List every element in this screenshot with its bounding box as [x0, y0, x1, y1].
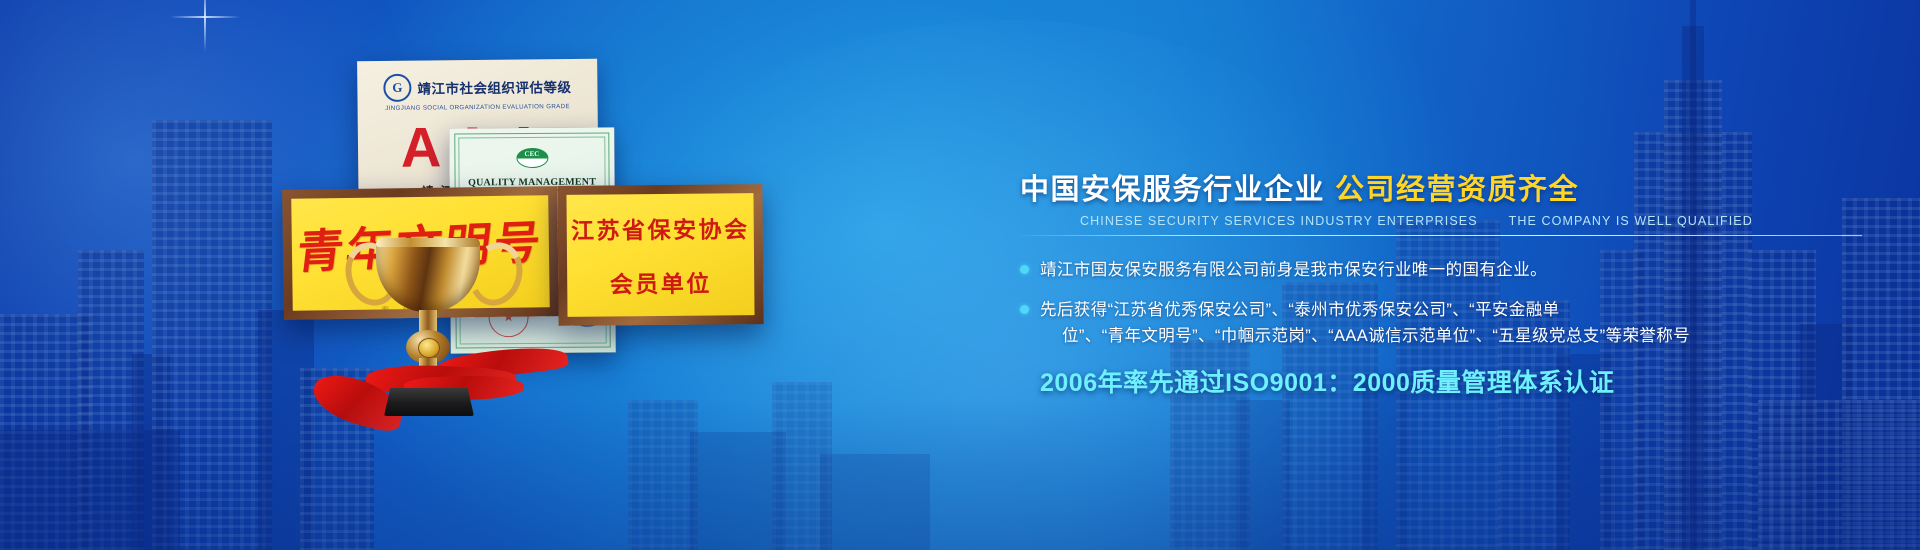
jiangsu-security-association-plaque: 江苏省保安协会 会员单位	[557, 184, 763, 326]
promo-banner: G 靖江市社会组织评估等级 JINGJIANG SOCIAL ORGANIZAT…	[0, 0, 1920, 550]
list-item: 先后获得“江苏省优秀保安公司”、“泰州市优秀保安公司”、“平安金融单 位”、“青…	[1020, 297, 1880, 350]
bullet-text-1: 靖江市国友保安服务有限公司前身是我市保安行业唯一的国有企业。	[1040, 257, 1547, 284]
banner-text-block: 中国安保服务行业企业公司经营资质齐全 CHINESE SECURITY SERV…	[1020, 176, 1880, 399]
association-plaque-line1: 江苏省保安协会	[571, 210, 750, 246]
subtitle-en-right: THE COMPANY IS WELL QUALIFIED	[1509, 214, 1753, 228]
cec-logo-icon: CEC	[516, 148, 548, 168]
bullet-2-line-1: 先后获得“江苏省优秀保安公司”、“泰州市优秀保安公司”、“平安金融单	[1040, 301, 1560, 319]
trophy-base	[384, 388, 474, 416]
bullet-2-line-2: 位”、“青年文明号”、“巾帼示范岗”、“AAA诚信示范单位”、“五星级党总支”等…	[1062, 323, 1690, 350]
aaa-title-cn: 靖江市社会组织评估等级	[417, 76, 571, 98]
headline-yellow-part: 公司经营资质齐全	[1335, 174, 1579, 206]
gold-trophy	[318, 238, 538, 418]
banner-bullet-list: 靖江市国友保安服务有限公司前身是我市保安行业唯一的国有企业。 先后获得“江苏省优…	[1020, 257, 1880, 350]
banner-headline: 中国安保服务行业企业公司经营资质齐全	[1020, 176, 1880, 205]
aaa-certificate-header: G 靖江市社会组织评估等级	[357, 72, 597, 103]
skyline-building	[1758, 400, 1920, 550]
jingjiang-seal-icon: G	[383, 74, 411, 102]
association-plaque-line2: 会员单位	[610, 265, 712, 300]
aaa-title-en: JINGJIANG SOCIAL ORGANIZATION EVALUATION…	[358, 103, 598, 113]
bullet-dot-icon	[1020, 265, 1029, 274]
skyline-building	[1236, 400, 1290, 550]
banner-subtitle-english: CHINESE SECURITY SERVICES INDUSTRY ENTER…	[1080, 214, 1880, 228]
bullet-text-2: 先后获得“江苏省优秀保安公司”、“泰州市优秀保安公司”、“平安金融单 位”、“青…	[1040, 297, 1690, 350]
skyline-building	[1362, 374, 1410, 550]
awards-group: G 靖江市社会组织评估等级 JINGJIANG SOCIAL ORGANIZAT…	[0, 0, 1010, 550]
cec-logo-text: CEC	[517, 150, 547, 158]
iso-certification-statement: 2006年率先通过ISO9001：2000质量管理体系认证	[1040, 363, 1880, 399]
list-item: 靖江市国友保安服务有限公司前身是我市保安行业唯一的国有企业。	[1020, 257, 1880, 284]
headline-white-part: 中国安保服务行业企业	[1020, 174, 1325, 206]
bullet-1-line-1: 靖江市国友保安服务有限公司前身是我市保安行业唯一的国有企业。	[1040, 261, 1547, 279]
trophy-cup	[376, 238, 480, 312]
headline-divider	[1020, 235, 1862, 236]
subtitle-en-left: CHINESE SECURITY SERVICES INDUSTRY ENTER…	[1080, 214, 1478, 228]
bullet-dot-icon	[1020, 305, 1029, 314]
